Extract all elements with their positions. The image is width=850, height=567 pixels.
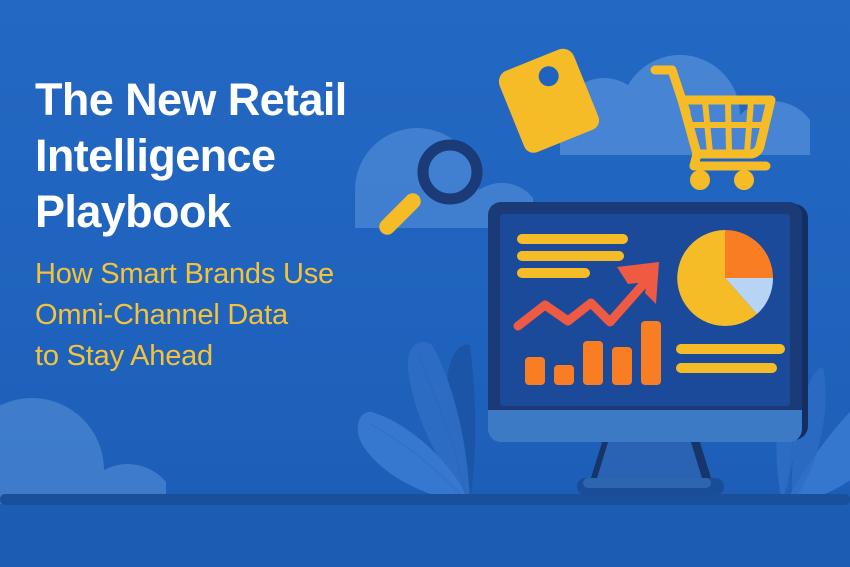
page-title: The New Retail Intelligence Playbook bbox=[35, 72, 435, 240]
hero-text-block: The New Retail Intelligence Playbook How… bbox=[35, 72, 435, 377]
shopping-cart-icon bbox=[655, 70, 771, 166]
cart-wheel-right bbox=[734, 170, 754, 190]
poster-canvas: The New Retail Intelligence Playbook How… bbox=[0, 0, 850, 567]
page-subtitle: How Smart Brands Use Omni-Channel Data t… bbox=[35, 254, 435, 377]
cart-rail-link bbox=[694, 154, 697, 166]
cart-wheel-left bbox=[690, 170, 710, 190]
price-tag-icon bbox=[495, 45, 602, 156]
